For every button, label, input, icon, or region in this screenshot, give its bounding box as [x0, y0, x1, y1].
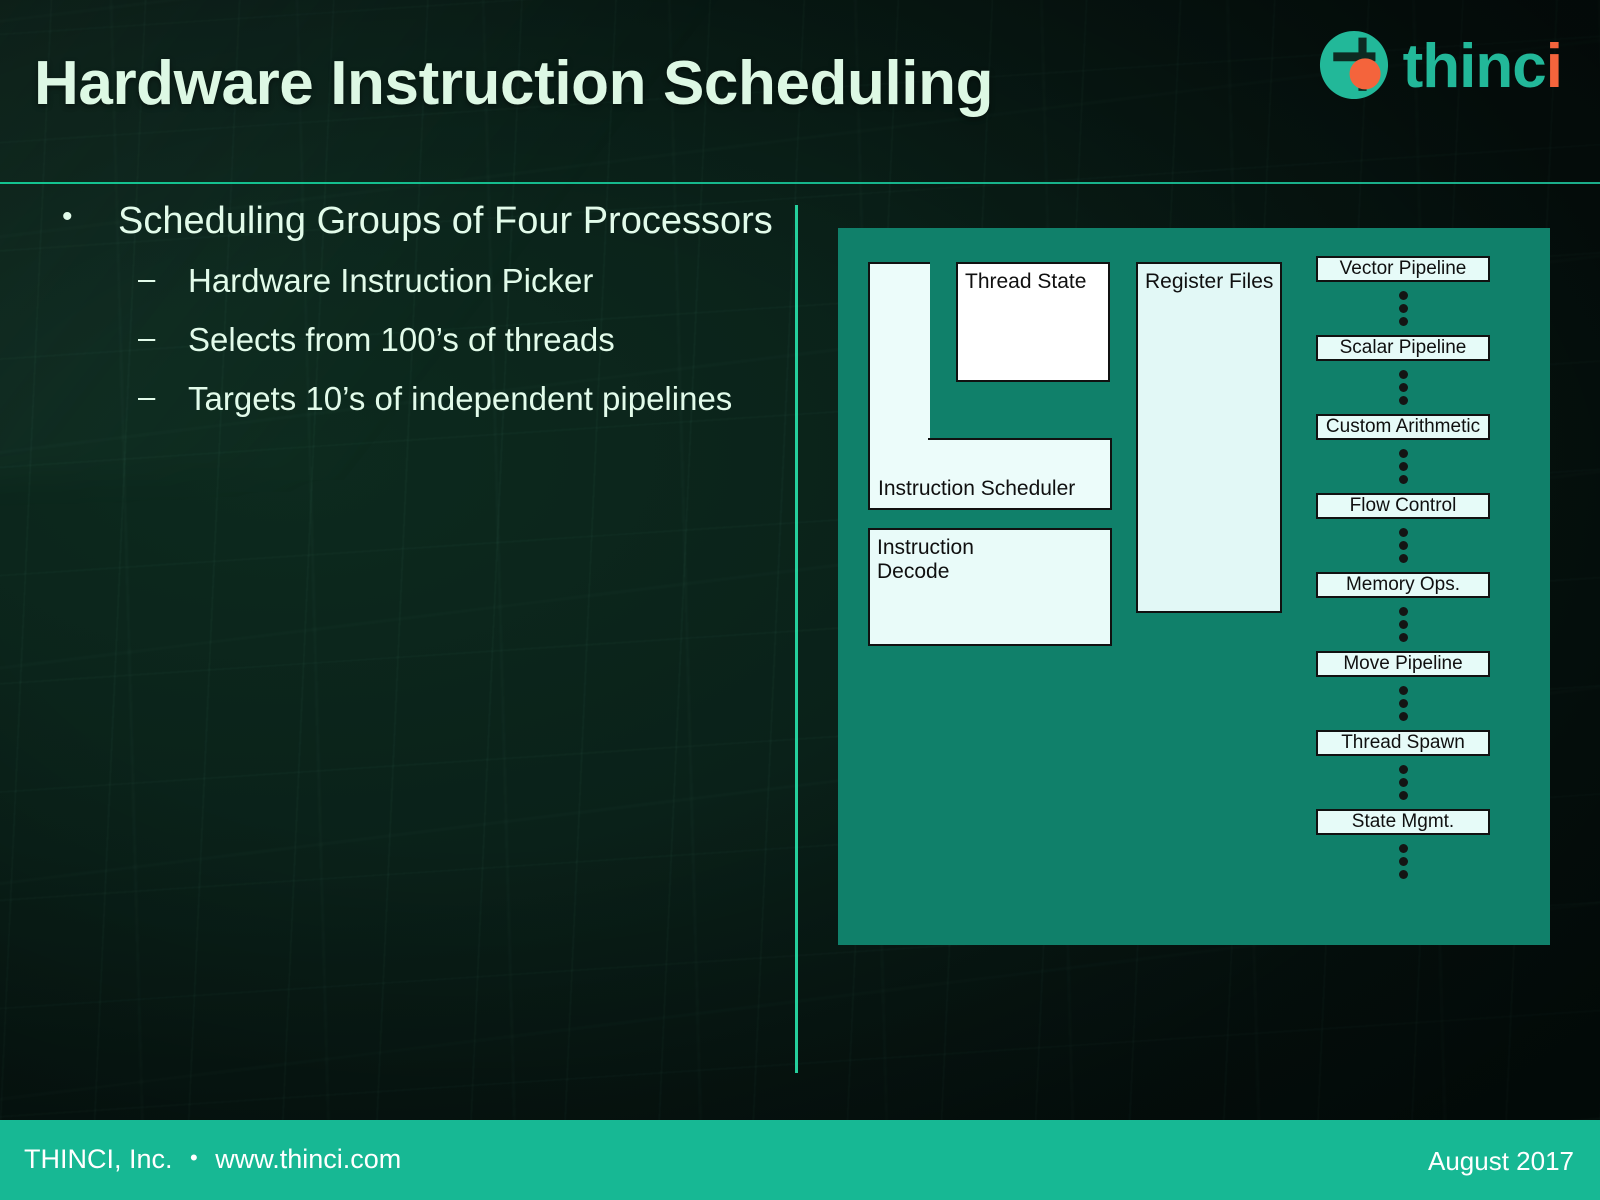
bullet-marker-dash: –	[138, 262, 155, 296]
bullet-item-level1: • Scheduling Groups of Four Processors	[40, 200, 780, 243]
slide-title: Hardware Instruction Scheduling	[34, 48, 993, 119]
wordmark-suffix: i	[1546, 32, 1562, 101]
thinci-wordmark: thinci	[1403, 36, 1562, 98]
instruction-scheduler-label: Instruction Scheduler	[878, 477, 1075, 501]
bullet-text: Hardware Instruction Picker	[188, 262, 593, 299]
footer-separator-bullet: •	[180, 1145, 208, 1170]
thinci-circle-t-mark-icon	[1317, 28, 1391, 102]
bullet-text: Selects from 100’s of threads	[188, 321, 615, 358]
pipeline-box-state-mgmt: State Mgmt.	[1316, 809, 1490, 835]
bullet-marker-dot: •	[62, 200, 73, 234]
bullet-item-level2: – Selects from 100’s of threads	[40, 322, 780, 358]
dot-icon	[1399, 857, 1408, 866]
pipeline-group: Vector Pipeline	[1316, 256, 1494, 335]
thinci-logo: thinci	[1317, 28, 1562, 102]
dot-icon	[1399, 765, 1408, 774]
pipeline-box-scalar: Scalar Pipeline	[1316, 335, 1490, 361]
pipeline-group: State Mgmt.	[1316, 809, 1494, 888]
dot-icon	[1399, 686, 1408, 695]
dot-icon	[1399, 844, 1408, 853]
bullet-list: • Scheduling Groups of Four Processors –…	[40, 200, 780, 440]
bullet-marker-dash: –	[138, 321, 155, 355]
pipeline-ellipsis-dots	[1316, 282, 1490, 335]
pipeline-group: Thread Spawn	[1316, 730, 1494, 809]
dot-icon	[1399, 607, 1408, 616]
dot-icon	[1399, 870, 1408, 879]
pipeline-ellipsis-dots	[1316, 756, 1490, 809]
dot-icon	[1399, 291, 1408, 300]
pipeline-box-custom-arithmetic: Custom Arithmetic	[1316, 414, 1490, 440]
pipeline-group: Flow Control	[1316, 493, 1494, 572]
pipeline-ellipsis-dots	[1316, 677, 1490, 730]
pipeline-ellipsis-dots	[1316, 598, 1490, 651]
pipeline-box-memory-ops: Memory Ops.	[1316, 572, 1490, 598]
dot-icon	[1399, 699, 1408, 708]
presentation-slide: Hardware Instruction Scheduling thinci •…	[0, 0, 1600, 1200]
thread-state-label: Thread State	[965, 270, 1086, 294]
scheduler-left-column	[868, 262, 930, 510]
footer-company-info: THINCI, Inc. • www.thinci.com	[24, 1144, 401, 1175]
pipeline-group: Scalar Pipeline	[1316, 335, 1494, 414]
content-divider-line	[795, 205, 798, 1073]
footer-date: August 2017	[1428, 1146, 1574, 1177]
pipeline-ellipsis-dots	[1316, 835, 1490, 888]
pipeline-stack: Vector Pipeline Scalar Pipeline Custom A…	[1316, 256, 1494, 888]
dot-icon	[1399, 317, 1408, 326]
pipeline-group: Custom Arithmetic	[1316, 414, 1494, 493]
title-underline-rule	[0, 182, 1600, 184]
dot-icon	[1399, 633, 1408, 642]
footer-company-name: THINCI, Inc.	[24, 1144, 173, 1174]
thread-state-block: Thread State	[956, 262, 1110, 382]
dot-icon	[1399, 304, 1408, 313]
dot-icon	[1399, 462, 1408, 471]
dot-icon	[1399, 475, 1408, 484]
register-files-block: Register Files	[1136, 262, 1282, 613]
dot-icon	[1399, 449, 1408, 458]
pipeline-box-thread-spawn: Thread Spawn	[1316, 730, 1490, 756]
bullet-text: Scheduling Groups of Four Processors	[118, 200, 773, 242]
footer-website-link[interactable]: www.thinci.com	[215, 1144, 401, 1174]
dot-icon	[1399, 791, 1408, 800]
instruction-decode-label: Instruction Decode	[877, 536, 974, 585]
dot-icon	[1399, 528, 1408, 537]
dot-icon	[1399, 712, 1408, 721]
pipeline-box-vector: Vector Pipeline	[1316, 256, 1490, 282]
pipeline-ellipsis-dots	[1316, 361, 1490, 414]
dot-icon	[1399, 554, 1408, 563]
dot-icon	[1399, 778, 1408, 787]
pipeline-box-flow-control: Flow Control	[1316, 493, 1490, 519]
bullet-item-level2: – Targets 10’s of independent pipelines	[40, 381, 780, 417]
dot-icon	[1399, 541, 1408, 550]
pipeline-group: Memory Ops.	[1316, 572, 1494, 651]
wordmark-prefix: thinc	[1403, 32, 1546, 101]
bullet-text: Targets 10’s of independent pipelines	[188, 380, 732, 417]
dot-icon	[1399, 383, 1408, 392]
pipeline-ellipsis-dots	[1316, 519, 1490, 572]
pipeline-group: Move Pipeline	[1316, 651, 1494, 730]
pipeline-ellipsis-dots	[1316, 440, 1490, 493]
dot-icon	[1399, 620, 1408, 629]
architecture-diagram-panel: Instruction Scheduler Thread State Instr…	[838, 228, 1550, 945]
dot-icon	[1399, 370, 1408, 379]
dot-icon	[1399, 396, 1408, 405]
instruction-decode-block: Instruction Decode	[868, 528, 1112, 646]
bullet-item-level2: – Hardware Instruction Picker	[40, 263, 780, 299]
pipeline-box-move: Move Pipeline	[1316, 651, 1490, 677]
register-files-label: Register Files	[1145, 270, 1273, 294]
bullet-marker-dash: –	[138, 380, 155, 414]
